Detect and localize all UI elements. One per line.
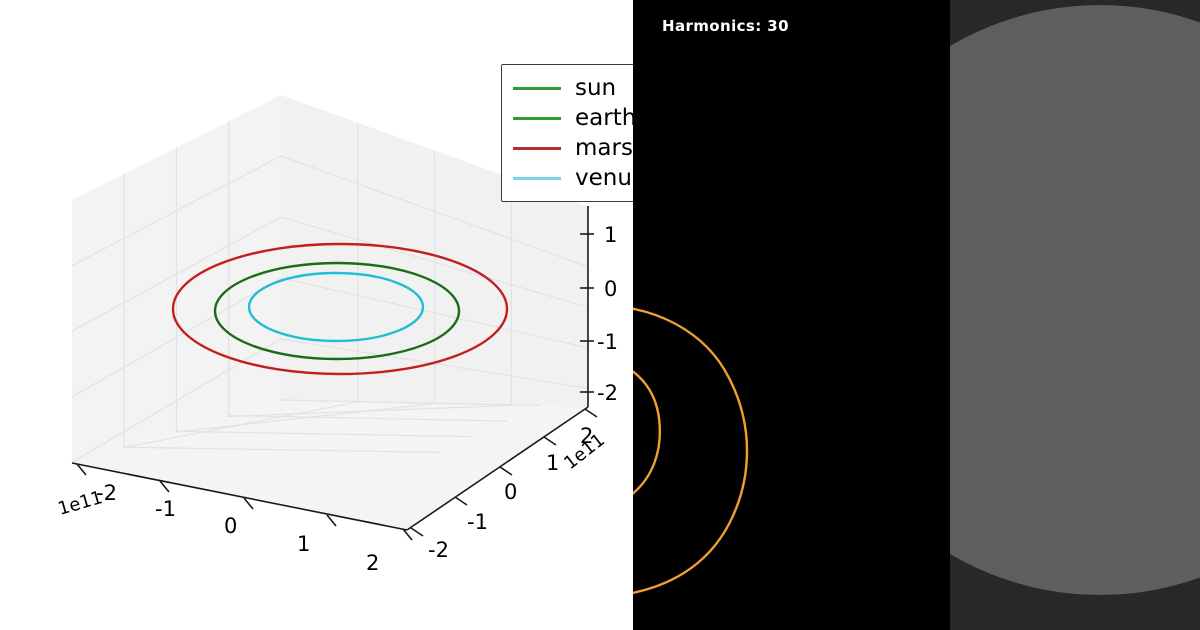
celestial-body-panel: [950, 0, 1200, 630]
z-tick-label-3: -2: [597, 381, 618, 405]
legend-swatch-venus: [513, 177, 561, 180]
legend-label-venus: venus: [575, 167, 633, 190]
y-tick-label-0: -2: [428, 538, 449, 562]
legend-label-mars: mars: [575, 137, 633, 160]
orbit-legend[interactable]: sun earth mars venus: [501, 64, 633, 202]
harmonics-status-label: Harmonics: 30: [662, 17, 789, 35]
harmonograph-canvas: [633, 0, 950, 630]
legend-item-earth[interactable]: earth: [502, 103, 633, 133]
harmonic-curves: [633, 306, 747, 596]
x-tick-label-4: 2: [366, 551, 379, 575]
harmonic-curve-inner: [633, 360, 660, 511]
legend-item-mars[interactable]: mars: [502, 133, 633, 163]
celestial-body-canvas: [950, 0, 1200, 630]
x-tick-label-2: 0: [224, 514, 237, 538]
legend-label-earth: earth: [575, 107, 633, 130]
harmonic-curve-outer: [633, 306, 747, 596]
legend-item-venus[interactable]: venus: [502, 163, 633, 193]
z-tick-label-1: 0: [604, 277, 617, 301]
screenshot-root: -2 -1 0 1 2 1e11 -2 -1 0 1 2 1e11 1 0 -1: [0, 0, 1200, 630]
z-tick-label-2: -1: [597, 330, 618, 354]
x-axis-offset-label: 1e11: [56, 487, 105, 520]
legend-swatch-mars: [513, 147, 561, 150]
y-tick-label-1: -1: [467, 510, 488, 534]
legend-item-sun[interactable]: sun: [502, 73, 633, 103]
celestial-body-disc: [950, 5, 1200, 595]
harmonograph-panel: Harmonics: 30: [633, 0, 950, 630]
z-tick-labels: 1 0 -1 -2: [597, 223, 618, 405]
legend-swatch-earth: [513, 117, 561, 120]
legend-swatch-sun: [513, 87, 561, 90]
z-tick-label-0: 1: [604, 223, 617, 247]
x-tick-label-3: 1: [297, 532, 310, 556]
x-tick-label-1: -1: [155, 497, 176, 521]
legend-label-sun: sun: [575, 77, 616, 100]
y-tick-label-3: 1: [546, 451, 559, 475]
y-tick-label-2: 0: [504, 480, 517, 504]
orbit-plot-panel: -2 -1 0 1 2 1e11 -2 -1 0 1 2 1e11 1 0 -1: [0, 0, 633, 630]
